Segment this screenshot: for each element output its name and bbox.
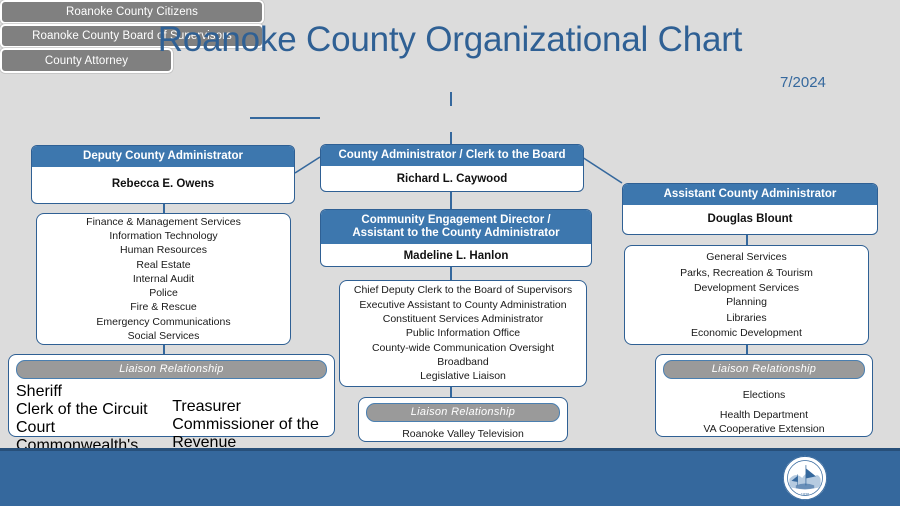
community-role: Community Engagement Director / Assistan… <box>321 210 591 244</box>
svg-text:1838: 1838 <box>801 492 809 496</box>
liaison-relationship-title: Liaison Relationship <box>16 360 327 379</box>
assistant-name: Douglas Blount <box>623 205 877 232</box>
department-item: Chief Deputy Clerk to the Board of Super… <box>354 283 572 297</box>
community-role-line1: Community Engagement Director / <box>323 214 589 227</box>
bottom-banner <box>0 448 900 506</box>
liaison-item: Treasurer <box>172 398 327 416</box>
deputy-liaison-panel: Liaison Relationship Sheriff Clerk of th… <box>8 354 335 437</box>
unit-community-engagement-director[interactable]: Community Engagement Director / Assistan… <box>320 209 592 267</box>
connector-administrator-to-community <box>450 191 452 209</box>
department-item: Development Services <box>694 281 799 295</box>
department-item: Legislative Liaison <box>420 369 506 383</box>
department-item: Executive Assistant to County Administra… <box>359 298 566 312</box>
assistant-liaison-panel: Liaison Relationship Elections Health De… <box>655 354 873 437</box>
department-item: Human Resources <box>120 243 207 257</box>
department-item: Finance & Management Services <box>86 215 241 229</box>
department-item: General Services <box>706 250 787 264</box>
department-item: Public Information Office <box>406 326 520 340</box>
assistant-liaison-items: Elections Health Department VA Cooperati… <box>663 379 865 437</box>
department-item: Social Services <box>128 329 200 343</box>
department-item: Parks, Recreation & Tourism <box>680 266 813 280</box>
department-item: Police <box>149 286 178 300</box>
community-liaison-items: Roanoke Valley Television <box>366 422 560 442</box>
org-chart-canvas: Roanoke County Organizational Chart 7/20… <box>0 0 900 506</box>
community-liaison-panel: Liaison Relationship Roanoke Valley Tele… <box>358 397 568 442</box>
county-seal-icon: 1838 <box>782 455 828 501</box>
connector-community-to-departments <box>450 267 452 280</box>
liaison-item: VA Cooperative Extension <box>663 422 865 437</box>
connector-citizens-to-board <box>450 92 452 106</box>
department-item: Economic Development <box>691 326 802 340</box>
connector-assistant-to-departments <box>746 234 748 245</box>
liaison-item: Sheriff <box>16 383 154 401</box>
liaison-item: Commissioner of the Revenue <box>172 416 327 452</box>
department-item: County-wide Communication Oversight <box>372 341 554 355</box>
community-name: Madeline L. Hanlon <box>321 244 591 267</box>
deputy-departments-panel: Finance & Management Services Informatio… <box>36 213 291 345</box>
connector-attorney-to-board <box>250 117 320 119</box>
liaison-item: Elections <box>663 388 865 403</box>
liaison-relationship-title: Liaison Relationship <box>366 403 560 422</box>
department-item: Fire & Rescue <box>130 300 197 314</box>
liaison-relationship-title: Liaison Relationship <box>663 360 865 379</box>
deputy-role: Deputy County Administrator <box>32 146 294 167</box>
community-role-line2: Assistant to the County Administrator <box>323 227 589 240</box>
unit-deputy-county-administrator[interactable]: Deputy County Administrator Rebecca E. O… <box>31 145 295 204</box>
page-title: Roanoke County Organizational Chart <box>0 20 900 60</box>
department-item: Information Technology <box>109 229 217 243</box>
county-administrator-name: Richard L. Caywood <box>321 166 583 192</box>
department-item: Internal Audit <box>133 272 194 286</box>
community-departments-panel: Chief Deputy Clerk to the Board of Super… <box>339 280 587 387</box>
department-item: Constituent Services Administrator <box>383 312 543 326</box>
liaison-item: Health Department <box>663 408 865 423</box>
date-label: 7/2024 <box>780 74 826 91</box>
unit-assistant-county-administrator[interactable]: Assistant County Administrator Douglas B… <box>622 183 878 235</box>
department-item: Real Estate <box>136 258 190 272</box>
liaison-item: Clerk of the Circuit Court <box>16 401 154 437</box>
assistant-departments-panel: General Services Parks, Recreation & Tou… <box>624 245 869 345</box>
department-item: Emergency Communications <box>96 315 230 329</box>
department-item: Libraries <box>726 311 766 325</box>
liaison-item: Roanoke Valley Television <box>366 427 560 442</box>
county-administrator-role: County Administrator / Clerk to the Boar… <box>321 145 583 166</box>
department-item: Broadband <box>437 355 488 369</box>
assistant-role: Assistant County Administrator <box>623 184 877 205</box>
unit-county-administrator[interactable]: County Administrator / Clerk to the Boar… <box>320 144 584 192</box>
deputy-name: Rebecca E. Owens <box>32 167 294 197</box>
department-item: Planning <box>726 295 767 309</box>
